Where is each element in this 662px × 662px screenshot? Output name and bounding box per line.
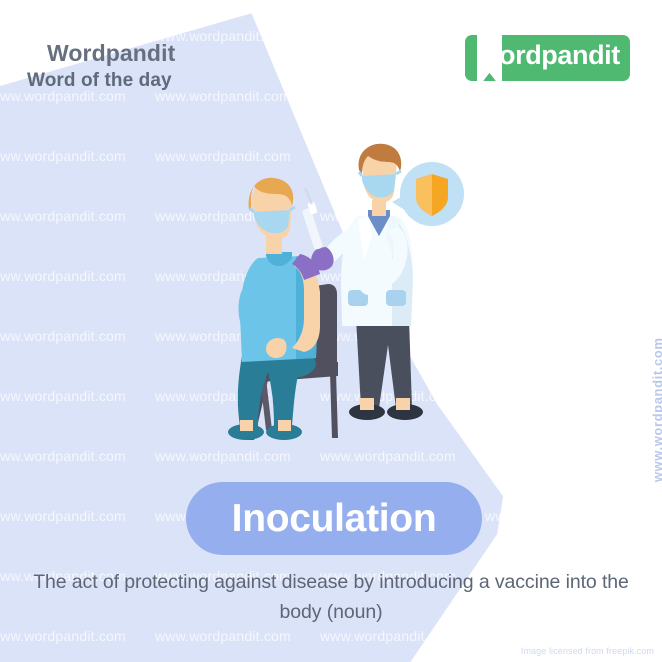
word-term: Inoculation [232,497,437,541]
word-definition: The act of protecting against disease by… [20,567,642,627]
vaccination-illustration [196,140,496,460]
word-of-the-day-card: www.wordpandit.comwww.wordpandit.comwww.… [0,0,662,662]
watermark-side: www.wordpandit.com [651,338,662,483]
word-pill: Inoculation [186,482,482,555]
speech-bubble-icon [392,162,464,226]
syringe-icon [302,188,324,250]
brand-subtitle: Word of the day [27,70,172,92]
brand-title: Wordpandit [47,40,175,67]
wordpandit-logo[interactable]: ordpandit [465,35,630,81]
image-credit: Image licensed from freepik.com [521,646,654,656]
logo-label: ordpandit [499,40,620,71]
